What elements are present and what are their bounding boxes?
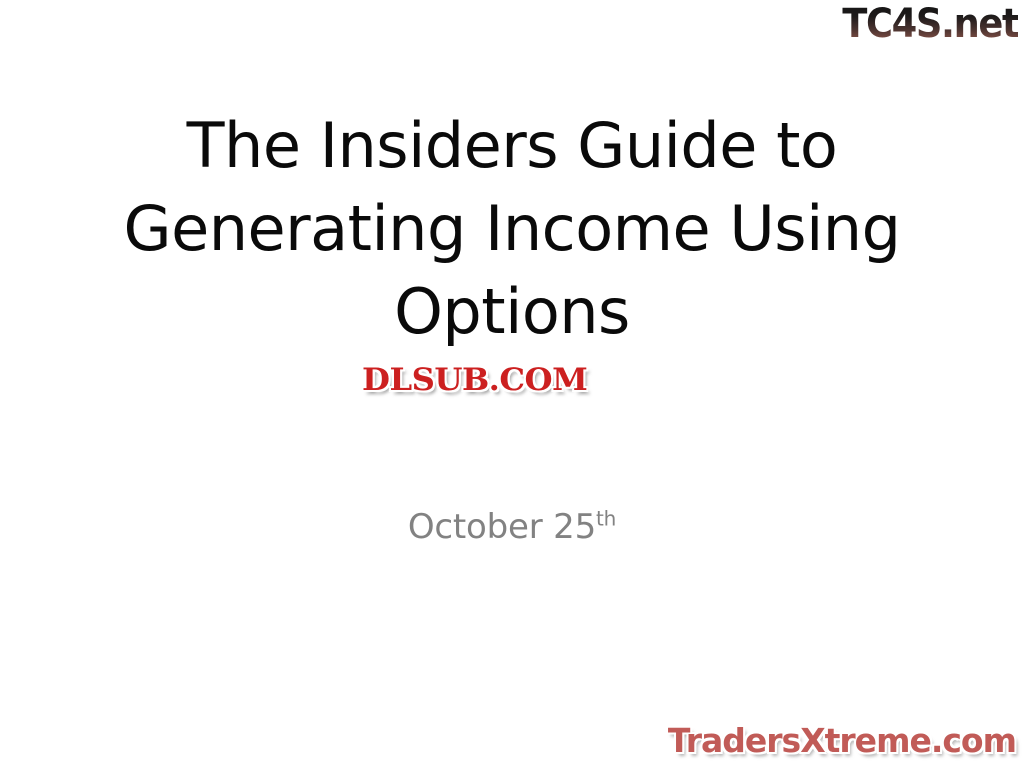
title-line-1: The Insiders Guide to — [62, 104, 962, 187]
slide-title: The Insiders Guide to Generating Income … — [62, 104, 962, 353]
title-line-2: Generating Income Using — [62, 187, 962, 270]
dlsub-watermark: DLSUB.COM — [362, 363, 587, 397]
title-line-3: Options — [62, 270, 962, 353]
tradersxtreme-watermark: TradersXtreme.com — [668, 722, 1016, 760]
subtitle-date: October 25 — [408, 507, 596, 547]
subtitle-ordinal-suffix: th — [596, 507, 616, 531]
presentation-slide: TC4S.net The Insiders Guide to Generatin… — [0, 0, 1024, 768]
tc4s-watermark: TC4S.net — [842, 2, 1018, 46]
slide-subtitle: October 25th — [62, 505, 962, 549]
